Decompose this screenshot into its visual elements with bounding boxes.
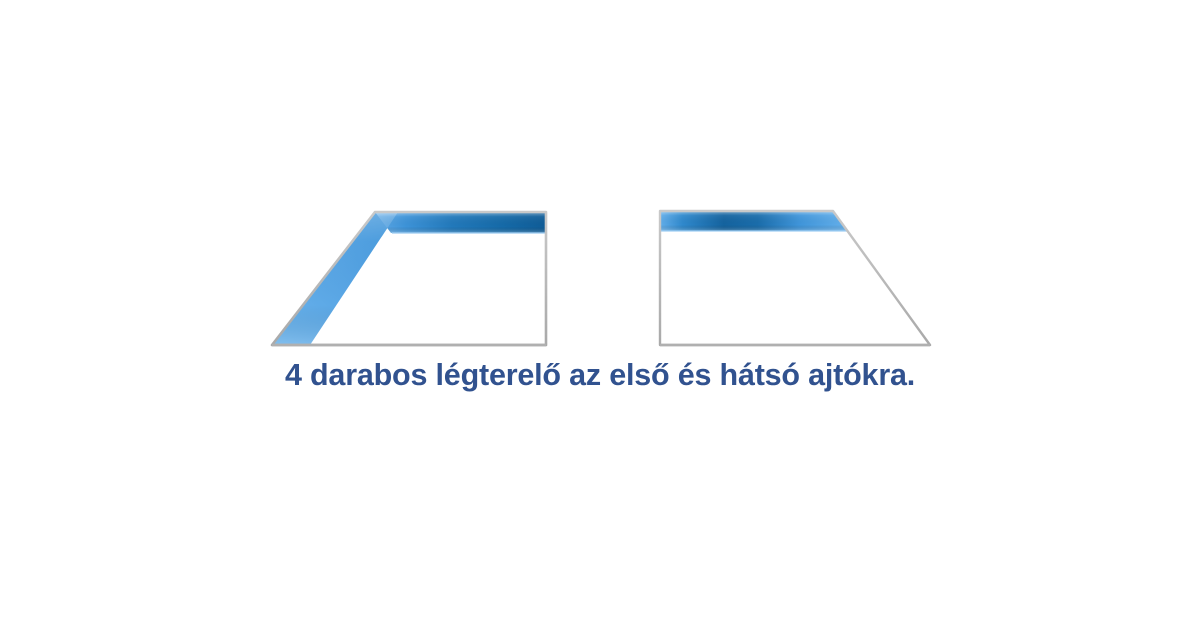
rear-door-deflector	[660, 211, 930, 345]
page-canvas: 4 darabos légterelő az első és hátsó ajt…	[0, 0, 1200, 630]
front-door-deflector	[272, 212, 546, 345]
product-caption: 4 darabos légterelő az első és hátsó ajt…	[0, 358, 1200, 393]
front-deflector-top-tint-shading	[375, 212, 546, 233]
rear-deflector-top-tint-shading	[660, 211, 848, 231]
wind-deflector-pair-illustration	[0, 0, 1200, 630]
